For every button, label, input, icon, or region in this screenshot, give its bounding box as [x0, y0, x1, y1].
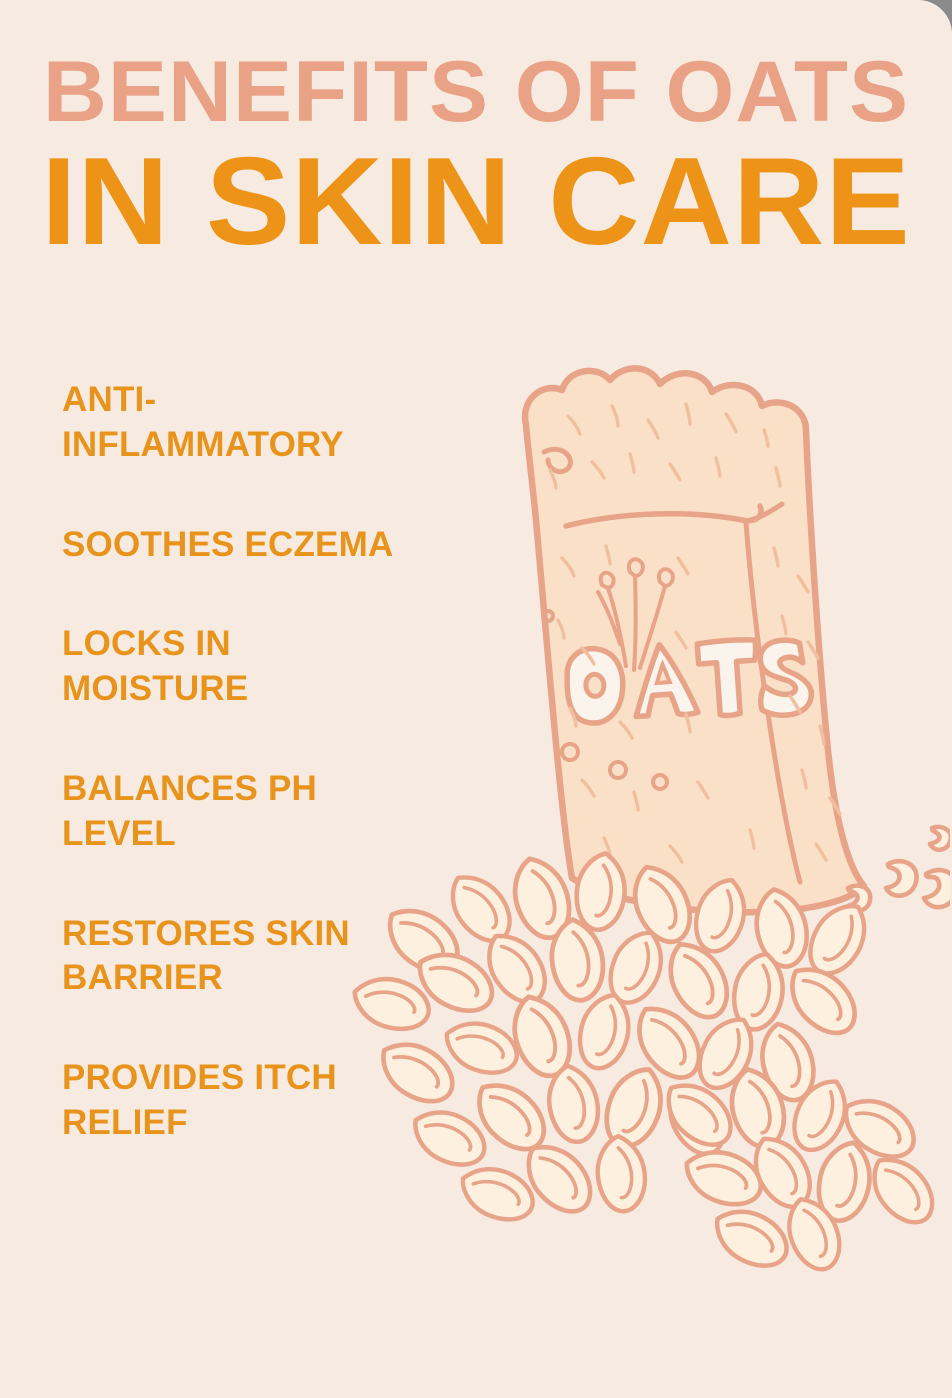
benefit-item-balances-ph-level: BALANCES PH LEVEL: [62, 767, 422, 857]
sack-label-oats: [565, 634, 813, 731]
oat-sack-illustration: [330, 330, 950, 1340]
poster-canvas: BENEFITS OF OATS IN SKIN CARE ANTI-INFLA…: [0, 0, 952, 1398]
benefit-item-restores-skin-barrier: RESTORES SKIN BARRIER: [62, 912, 422, 1002]
benefit-item-soothes-eczema: SOOTHES ECZEMA: [62, 523, 422, 568]
sack-body: [525, 368, 864, 912]
oat-grain-pile: [348, 851, 878, 1229]
scattered-oat-flakes: [848, 827, 950, 911]
title-line-one: BENEFITS OF OATS: [0, 52, 952, 134]
benefit-item-anti-inflammatory: ANTI-INFLAMMATORY: [62, 378, 422, 468]
benefits-list: ANTI-INFLAMMATORY SOOTHES ECZEMA LOCKS I…: [62, 378, 422, 1146]
benefit-item-provides-itch-relief: PROVIDES ITCH RELIEF: [62, 1056, 422, 1146]
sack-dots: [543, 611, 667, 789]
oat-sprig-icon: [598, 559, 673, 670]
sack-texture: [550, 404, 840, 862]
benefit-item-locks-in-moisture: LOCKS IN MOISTURE: [62, 622, 422, 712]
oat-grain-cluster-secondary: [655, 1063, 944, 1277]
page-title: BENEFITS OF OATS IN SKIN CARE: [0, 52, 952, 264]
title-line-two: IN SKIN CARE: [0, 140, 952, 264]
